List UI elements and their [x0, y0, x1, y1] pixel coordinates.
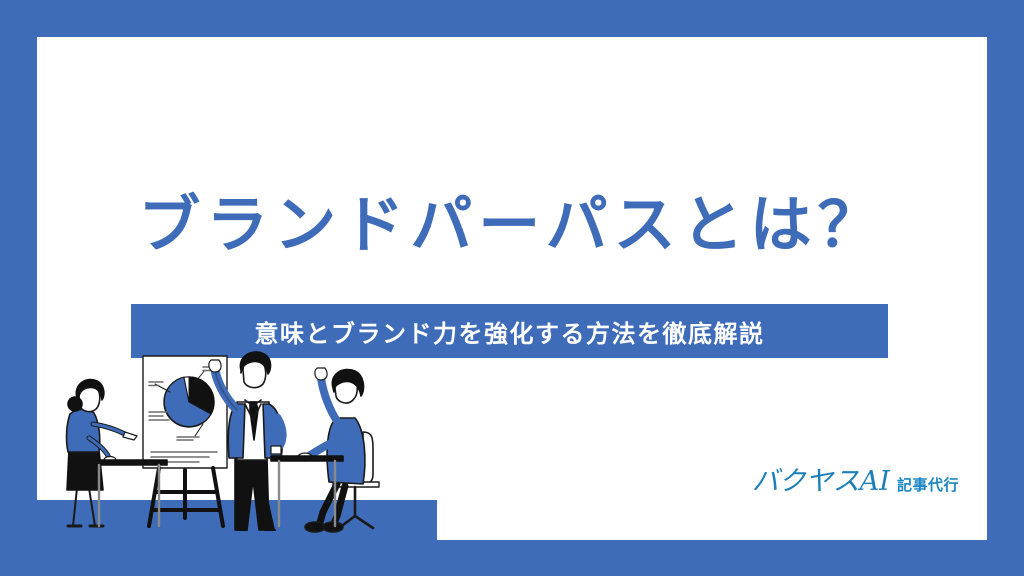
slide-inner-panel: ブランドパーパスとは？ 意味とブランド力を強化する方法を徹底解説 バクヤスAI … [37, 37, 987, 540]
brand-logo: バクヤスAI 記事代行 [752, 459, 959, 498]
pie-chart [164, 377, 214, 427]
brand-logo-service: 記事代行 [897, 474, 959, 495]
title-block: ブランドパーパスとは？ [37, 192, 987, 257]
slide-canvas: ブランドパーパスとは？ 意味とブランド力を強化する方法を徹底解説 バクヤスAI … [0, 0, 1024, 576]
page-title: ブランドパーパスとは？ [37, 192, 987, 257]
office-illustration [37, 340, 437, 540]
brand-logo-name: バクヤスAI [752, 459, 890, 498]
